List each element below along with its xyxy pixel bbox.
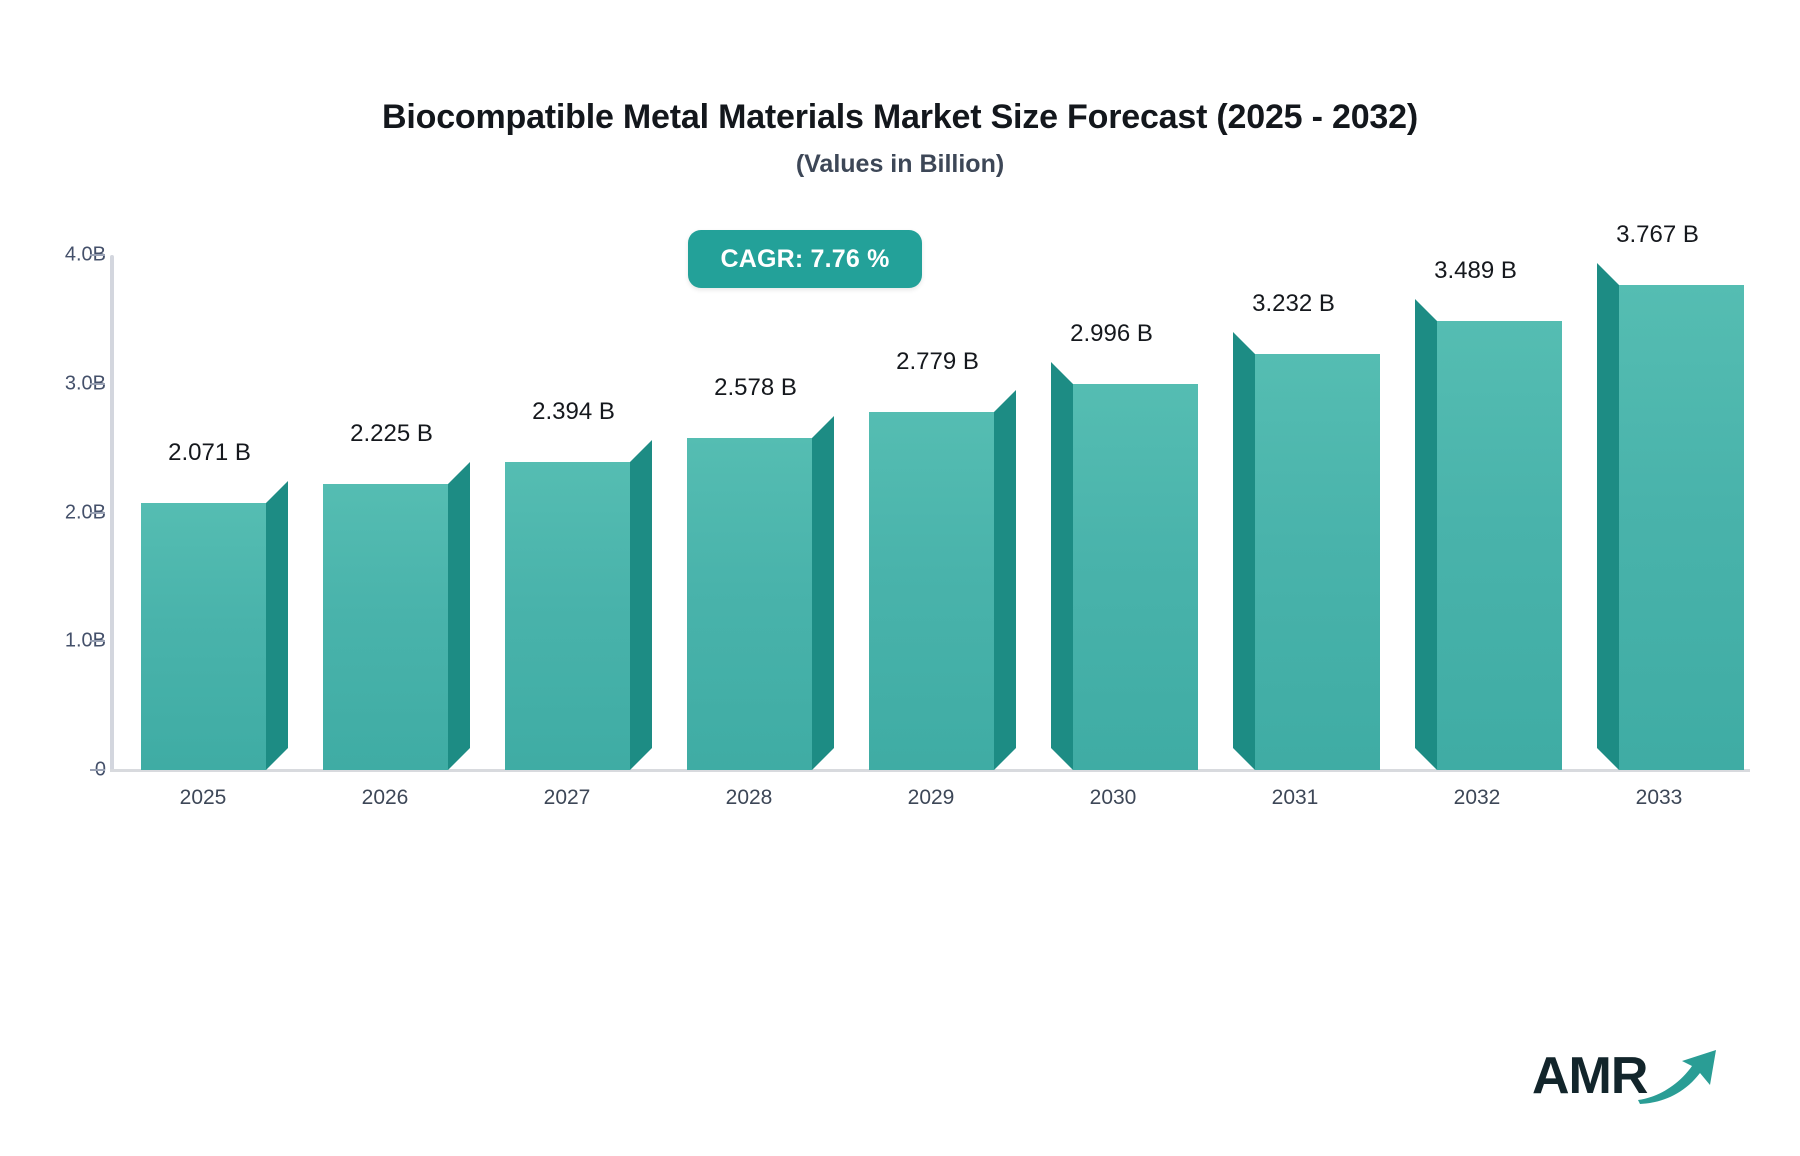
bar-2028[interactable]	[687, 416, 834, 770]
bar-value-label: 2.996 B	[1070, 320, 1153, 348]
cagr-badge: CAGR: 7.76 %	[688, 230, 922, 288]
y-axis-line	[110, 255, 114, 771]
bar-2029[interactable]	[869, 390, 1016, 770]
chart-canvas: Biocompatible Metal Materials Market Siz…	[0, 0, 1800, 1156]
y-axis-tick-mark	[90, 254, 105, 256]
y-axis-tick-mark	[90, 512, 105, 514]
x-axis-tick-label: 2027	[544, 786, 591, 810]
bar-value-label: 3.232 B	[1252, 290, 1335, 318]
bar-side-face	[1051, 362, 1073, 770]
bar-side-face	[1597, 263, 1619, 770]
bar-2033[interactable]	[1597, 263, 1744, 770]
x-axis-tick-label: 2032	[1454, 786, 1501, 810]
y-axis-tick-mark	[90, 383, 105, 385]
bar-2025[interactable]	[141, 481, 288, 770]
bar-side-face	[812, 416, 834, 770]
bar-value-label: 2.779 B	[896, 348, 979, 376]
bar-side-face	[994, 390, 1016, 770]
bar-side-face	[630, 440, 652, 770]
bar-front-face	[141, 503, 266, 770]
bar-front-face	[505, 462, 630, 770]
bar-2032[interactable]	[1415, 299, 1562, 770]
x-axis-tick-label: 2025	[180, 786, 227, 810]
bar-side-face	[448, 462, 470, 770]
x-axis-tick-label: 2030	[1090, 786, 1137, 810]
bar-side-face	[1233, 332, 1255, 770]
bar-front-face	[687, 438, 812, 770]
bar-front-face	[1073, 384, 1198, 770]
bar-value-label: 3.767 B	[1616, 221, 1699, 249]
trend-up-arrow-icon	[1636, 1042, 1722, 1112]
bar-value-label: 2.225 B	[350, 420, 433, 448]
x-axis-tick-label: 2029	[908, 786, 955, 810]
bar-2027[interactable]	[505, 440, 652, 770]
bar-side-face	[266, 481, 288, 770]
amr-logo: AMR	[1532, 1040, 1722, 1120]
bar-2026[interactable]	[323, 462, 470, 770]
bar-value-label: 2.394 B	[532, 398, 615, 426]
x-axis-tick-label: 2033	[1636, 786, 1683, 810]
bar-side-face	[1415, 299, 1437, 770]
bar-front-face	[1437, 321, 1562, 770]
x-axis-tick-label: 2026	[362, 786, 409, 810]
bar-2031[interactable]	[1233, 332, 1380, 770]
bar-value-label: 2.071 B	[168, 439, 251, 467]
y-axis-tick-mark	[90, 640, 105, 642]
bar-front-face	[1619, 285, 1744, 770]
bar-value-label: 3.489 B	[1434, 257, 1517, 285]
y-axis-tick-mark	[90, 769, 105, 771]
bar-front-face	[323, 484, 448, 770]
x-axis-tick-label: 2031	[1272, 786, 1319, 810]
bar-value-label: 2.578 B	[714, 374, 797, 402]
bar-front-face	[869, 412, 994, 770]
x-axis-tick-label: 2028	[726, 786, 773, 810]
bar-2030[interactable]	[1051, 362, 1198, 770]
amr-logo-text: AMR	[1532, 1046, 1647, 1106]
plot-area: 01.0B2.0B3.0B4.0B 2.071 B2.225 B2.394 B2…	[0, 0, 1800, 1156]
bar-front-face	[1255, 354, 1380, 770]
